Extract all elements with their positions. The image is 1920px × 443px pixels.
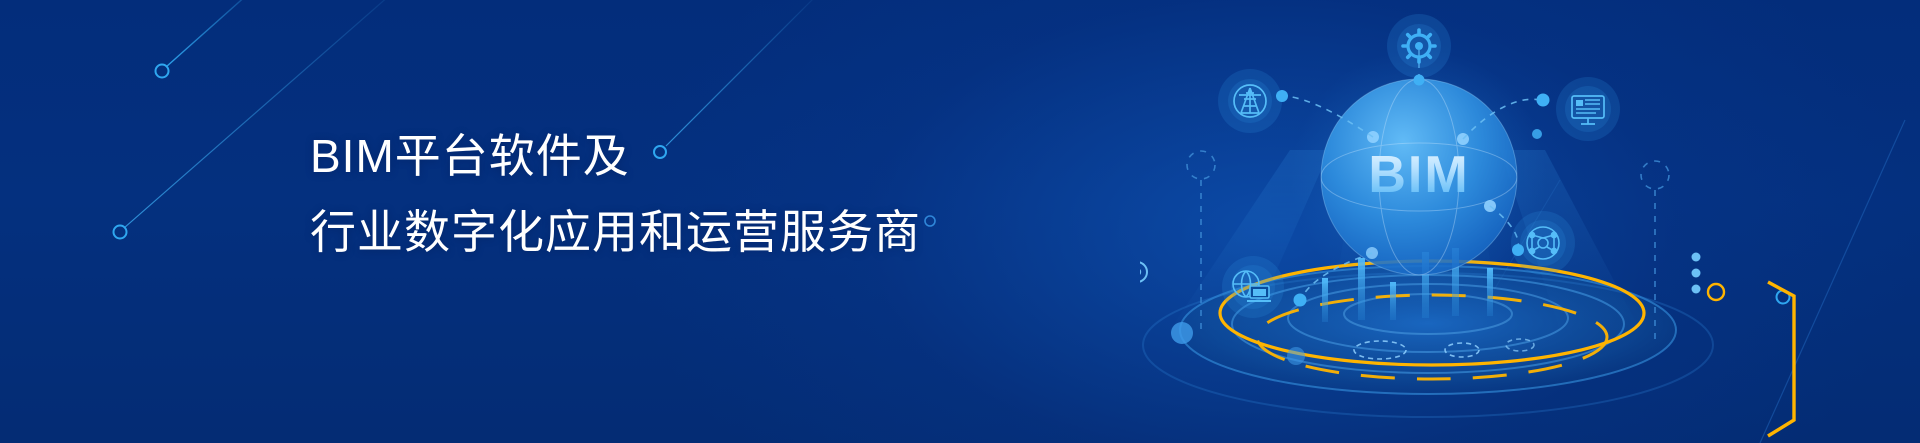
power-tower-icon [1218,69,1288,133]
banner-headline: BIM平台软件及 行业数字化应用和运营服务商 [310,118,921,270]
deco-ring-1 [156,65,169,78]
dot-column-right [1692,253,1701,294]
network-node [1512,244,1524,256]
headline-line-1: BIM平台软件及 [310,118,921,194]
monitor-node [1537,94,1550,107]
globe-node [1294,294,1307,307]
tower-node [1276,90,1288,102]
network-icon [1511,211,1575,275]
deco-line-1 [166,0,275,67]
deco-ring-2 [114,226,127,239]
hero-banner: BIM平台软件及 行业数字化应用和运营服务商 [0,0,1920,443]
headline-line-2: 行业数字化应用和运营服务商 [310,194,921,270]
monitor-node-2 [1532,129,1542,139]
monitor-icon [1532,77,1620,141]
gear-node [1414,75,1425,86]
bim-sphere [1291,49,1547,305]
hero-illustration [1140,0,1920,443]
deco-ring-4 [925,216,935,226]
